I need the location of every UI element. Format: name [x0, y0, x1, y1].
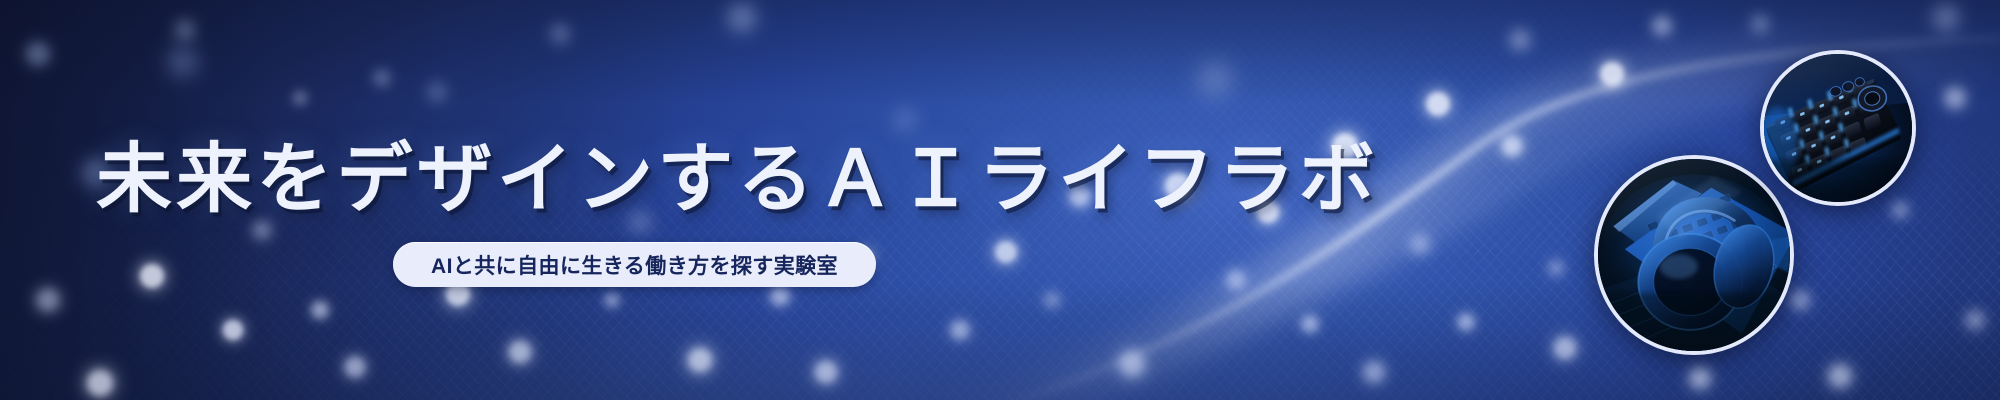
page-title: 未来をデザインするＡＩライフラボ — [96, 142, 1379, 218]
headline-container: 未来をデザインするＡＩライフラボ — [96, 142, 1379, 218]
subtitle-pill: AIと共に自由に生きる働き方を探す実験室 — [393, 242, 876, 287]
backlit-keyboard-photo — [1760, 50, 1916, 206]
keyboard-photo-shade — [1764, 54, 1912, 202]
subtitle-text: AIと共に自由に生きる働き方を探す実験室 — [431, 250, 838, 280]
hero-banner: 未来をデザインするＡＩライフラボ AIと共に自由に生きる働き方を探す実験室 — [0, 0, 2000, 400]
headphones-photo-shade — [1598, 159, 1790, 351]
